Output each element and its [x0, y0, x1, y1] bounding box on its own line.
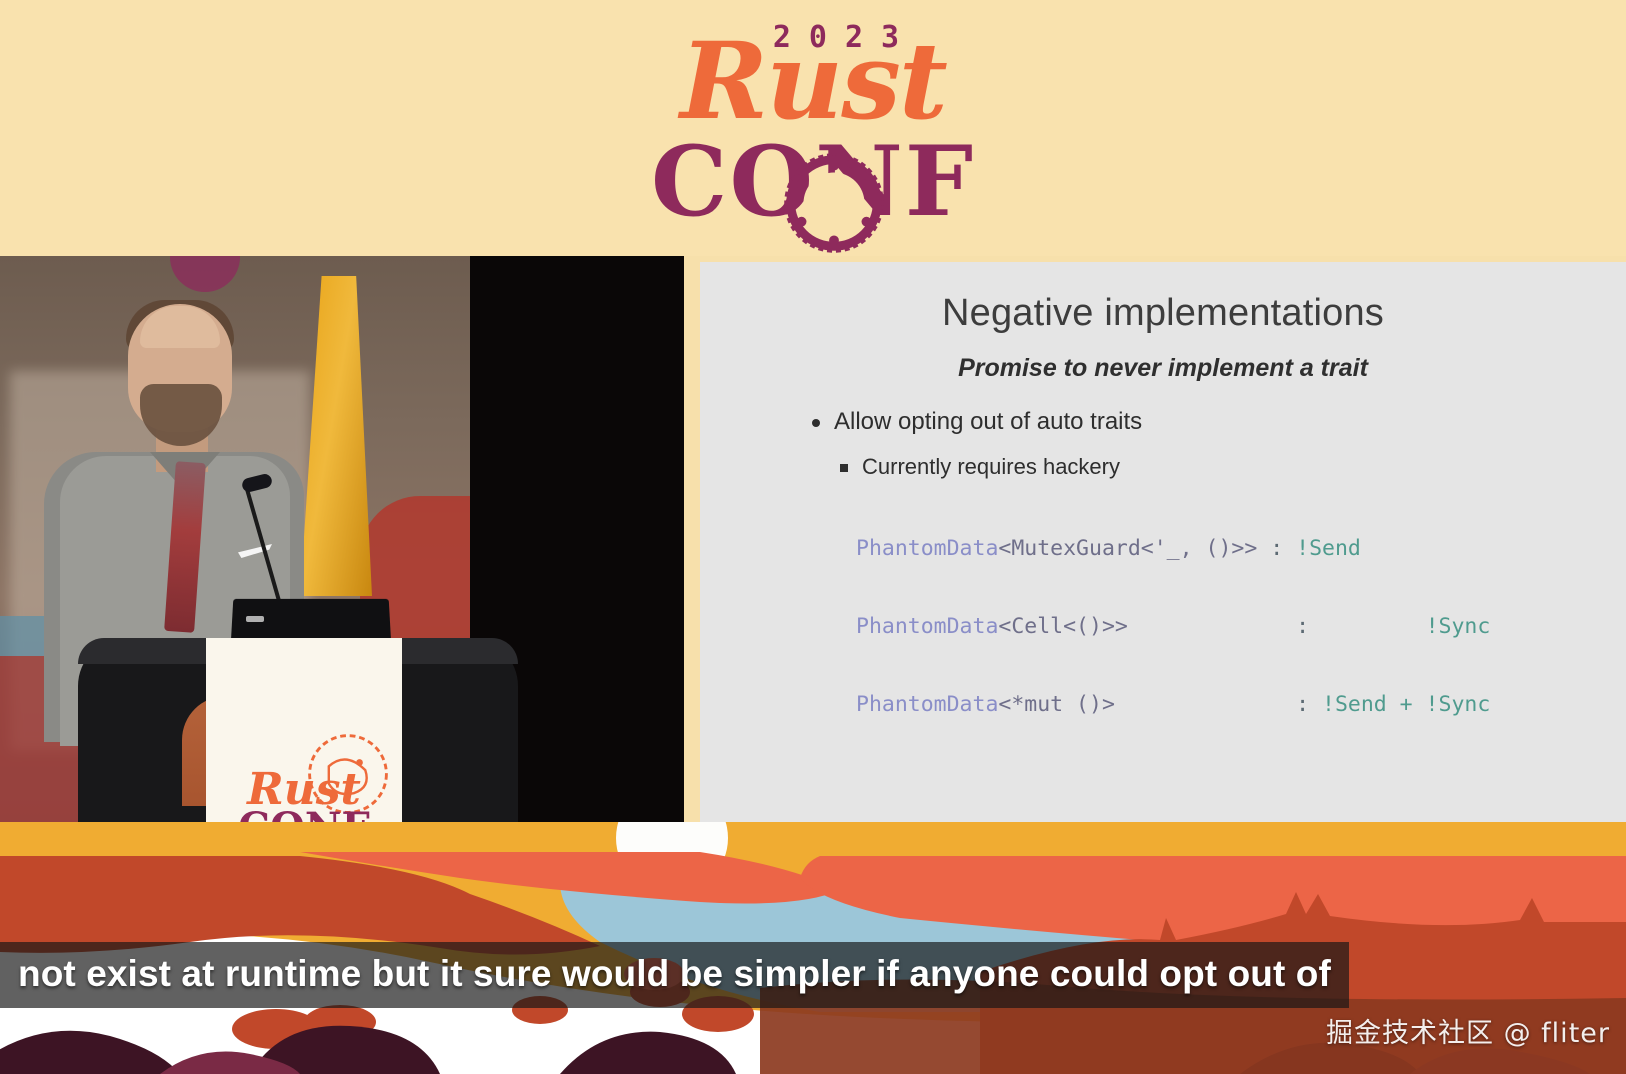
- chainring-gear-icon: [775, 144, 893, 256]
- code-generic: <MutexGuard<'_, ()>>: [998, 536, 1257, 561]
- rustconf-logo: 2023 Rust CONF: [613, 6, 1013, 254]
- slide-bullet-text: Currently requires hackery: [862, 454, 1120, 480]
- code-bounds: !Send + !Sync: [1322, 692, 1490, 717]
- presentation-slide[interactable]: Negative implementations Promise to neve…: [700, 262, 1626, 846]
- bullet-round-icon: [812, 419, 820, 427]
- slide-subtitle: Promise to never implement a trait: [700, 354, 1626, 383]
- watermark-text: 掘金技术社区 @ fliter: [1326, 1011, 1610, 1050]
- code-type: PhantomData: [856, 536, 998, 561]
- subtitle-caption-bar: not exist at runtime but it sure would b…: [0, 942, 1349, 1008]
- code-type: PhantomData: [856, 692, 998, 717]
- podium-sign-conf-text: CONF: [206, 804, 402, 822]
- rustconf-header-band: 2023 Rust CONF: [0, 0, 1626, 256]
- speaker-video-panel[interactable]: Rust CONF: [0, 256, 684, 822]
- slide-code-block: PhantomData<MutexGuard<'_, ()>> : !Send …: [856, 484, 1490, 770]
- code-colon: :: [1128, 614, 1426, 639]
- slide-title: Negative implementations: [700, 292, 1626, 335]
- code-line: PhantomData<Cell<()>> : !Sync: [856, 614, 1490, 640]
- code-line: PhantomData<*mut ()> : !Send + !Sync: [856, 692, 1490, 718]
- slide-bullet-level-2: Currently requires hackery: [840, 454, 1120, 480]
- code-bounds: !Send: [1296, 536, 1361, 561]
- laptop-logo-icon: [246, 616, 264, 622]
- video-player-frame: 2023 Rust CONF: [0, 0, 1626, 1074]
- subtitle-caption-text: not exist at runtime but it sure would b…: [18, 952, 1331, 996]
- slide-bullet-text: Allow opting out of auto traits: [834, 408, 1142, 436]
- code-generic: <Cell<()>>: [998, 614, 1127, 639]
- logo-rust-wordmark: Rust: [613, 28, 1013, 134]
- code-colon: :: [1257, 536, 1296, 561]
- code-line: PhantomData<MutexGuard<'_, ()>> : !Send: [856, 536, 1490, 562]
- slide-bullet-level-1: Allow opting out of auto traits: [812, 408, 1142, 436]
- bullet-square-icon: [840, 464, 848, 472]
- code-generic: <*mut ()>: [998, 692, 1115, 717]
- code-type: PhantomData: [856, 614, 998, 639]
- code-bounds: !Sync: [1426, 614, 1491, 639]
- code-colon: :: [1115, 692, 1322, 717]
